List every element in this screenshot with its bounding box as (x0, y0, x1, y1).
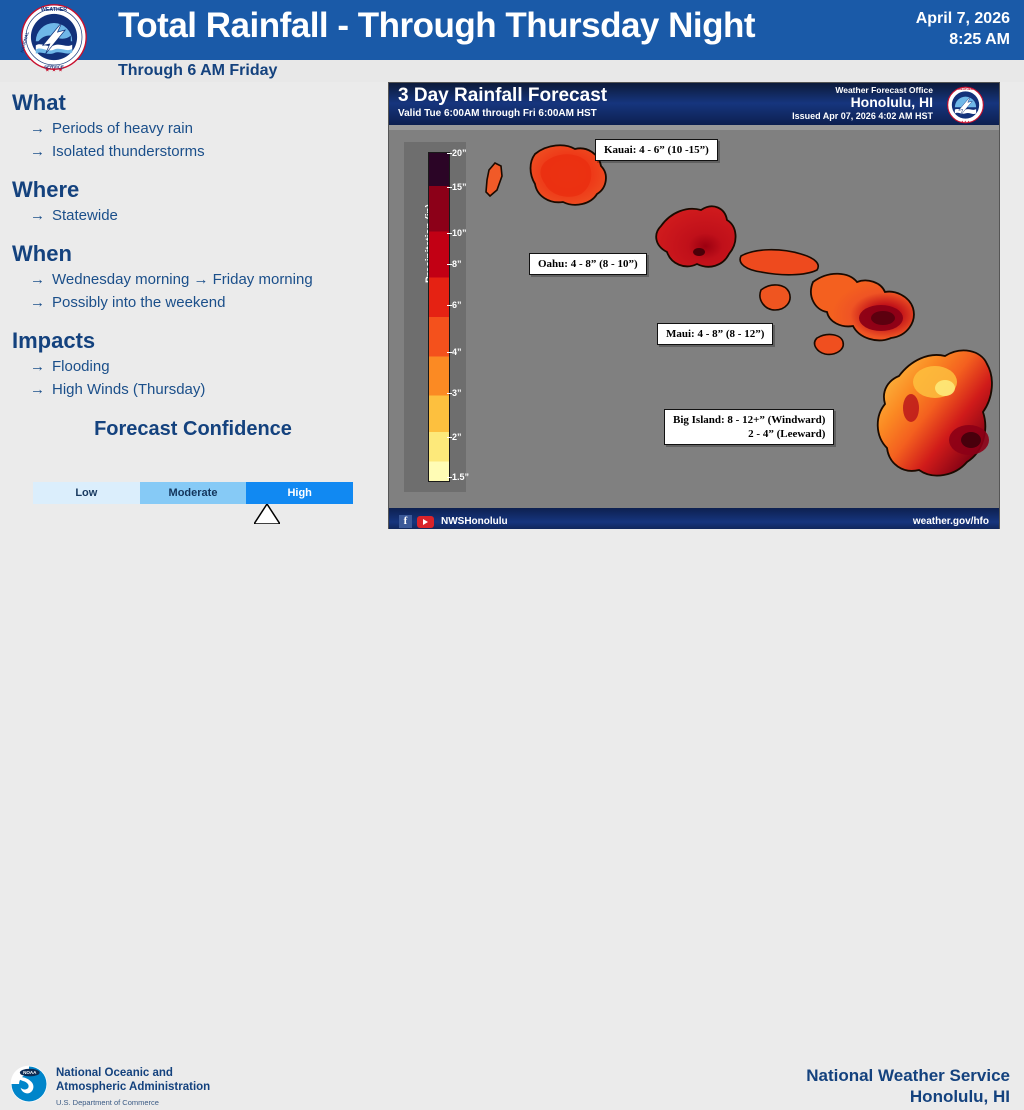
island-maui (811, 274, 914, 341)
arrow-right-icon: → (30, 293, 52, 313)
nws-footer-line-2: Honolulu, HI (806, 1086, 1010, 1107)
svg-text:WEATHER: WEATHER (41, 7, 67, 13)
section-heading-where: Where (12, 177, 386, 203)
wfo-name: Honolulu, HI (792, 95, 933, 110)
callout-big-island-leeward: 2 - 4” (Leeward) (673, 427, 825, 441)
header-date: April 7, 2026 (916, 8, 1010, 29)
bullet-item: → Statewide (30, 206, 386, 226)
sub-header-text: Through 6 AM Friday (118, 60, 277, 82)
bullet-text: Periods of heavy rain (52, 119, 193, 139)
svg-text:NOAA: NOAA (23, 1070, 37, 1075)
section-heading-when: When (12, 241, 386, 267)
confidence-level-high[interactable]: High (246, 482, 353, 504)
confidence-level-moderate[interactable]: Moderate (140, 482, 247, 504)
callout-kauai: Kauai: 4 - 6” (10 -15”) (595, 139, 718, 161)
header-time: 8:25 AM (916, 29, 1010, 50)
arrow-right-icon: → (30, 270, 52, 290)
facebook-icon[interactable]: f (399, 515, 412, 528)
briefing-panel: What → Periods of heavy rain → Isolated … (0, 82, 386, 529)
confidence-marker-triangle-icon (254, 504, 280, 524)
nws-seal-icon: WEATHER SERVICE NATIONAL ★ ★ ★ (6, 2, 102, 72)
callout-big-island: Big Island: 8 - 12+” (Windward) 2 - 4” (… (664, 409, 834, 445)
arrow-right-icon: → (30, 380, 52, 400)
island-lanai (760, 285, 790, 310)
header-datetime: April 7, 2026 8:25 AM (916, 8, 1010, 50)
weather-forecast-office-block: Weather Forecast Office Honolulu, HI Iss… (792, 85, 933, 121)
section-heading-impacts: Impacts (12, 328, 386, 354)
noaa-agency-name: National Oceanic and Atmospheric Adminis… (56, 1067, 210, 1110)
hawaii-islands-layer (389, 130, 999, 508)
noaa-department: U.S. Department of Commerce (56, 1096, 210, 1110)
social-handle[interactable]: NWSHonolulu (441, 516, 508, 527)
callout-big-island-windward: Big Island: 8 - 12+” (Windward) (673, 413, 825, 427)
bullet-item: → Periods of heavy rain (30, 119, 386, 139)
wfo-issued: Issued Apr 07, 2026 4:02 AM HST (792, 111, 933, 121)
map-valid-period: Valid Tue 6:00AM through Fri 6:00AM HST (398, 108, 597, 119)
bullet-item: → High Winds (Thursday) (30, 380, 386, 400)
bullet-item: → Wednesday morning → Friday morning (30, 270, 386, 290)
rainfall-forecast-map[interactable]: 3 Day Rainfall Forecast Valid Tue 6:00AM… (388, 82, 1000, 537)
bullet-text: Statewide (52, 206, 118, 226)
map-canvas[interactable]: Precipitation (in) 20” 15” 10” 8” 6” 4” … (389, 130, 999, 508)
map-title: 3 Day Rainfall Forecast (398, 85, 607, 107)
arrow-right-icon: → (30, 206, 52, 226)
bullet-item: → Flooding (30, 357, 386, 377)
bullet-text: Possibly into the weekend (52, 293, 225, 313)
bullet-item: → Possibly into the weekend (30, 293, 386, 313)
page-title: Total Rainfall - Through Thursday Night (118, 6, 755, 46)
island-niihau (486, 163, 502, 196)
confidence-level-low[interactable]: Low (33, 482, 140, 504)
page-header: Total Rainfall - Through Thursday Night … (0, 0, 1024, 60)
nws-footer-line-1: National Weather Service (806, 1065, 1010, 1086)
confidence-scale: Low Moderate High (33, 482, 353, 504)
arrow-right-icon: → (30, 119, 52, 139)
island-oahu (656, 206, 735, 266)
bullet-text: High Winds (Thursday) (52, 380, 205, 400)
section-heading-what: What (12, 90, 386, 116)
bullet-text: Isolated thunderstorms (52, 142, 205, 162)
bullet-text: Flooding (52, 357, 110, 377)
arrow-right-icon: → (30, 357, 52, 377)
nws-office-footer: National Weather Service Honolulu, HI (806, 1065, 1010, 1107)
island-molokai (740, 250, 818, 275)
noaa-line-1: National Oceanic and (56, 1067, 210, 1081)
nws-seal-small-icon: WEATHER ★ ★ ★ (938, 86, 993, 124)
page-footer: NOAA National Oceanic and Atmospheric Ad… (0, 529, 1024, 579)
callout-oahu: Oahu: 4 - 8” (8 - 10”) (529, 253, 647, 275)
svg-text:★ ★ ★: ★ ★ ★ (45, 66, 63, 72)
map-website-url[interactable]: weather.gov/hfo (913, 516, 989, 527)
noaa-logo-icon: NOAA (8, 1065, 50, 1103)
social-links[interactable]: f NWSHonolulu (399, 515, 508, 528)
island-kahoolawe (815, 335, 844, 355)
svg-text:WEATHER: WEATHER (958, 87, 974, 91)
bullet-text: Wednesday morning → Friday morning (52, 270, 313, 290)
bullet-item: → Isolated thunderstorms (30, 142, 386, 162)
arrow-right-icon: → (30, 142, 52, 162)
youtube-icon[interactable] (417, 516, 434, 528)
forecast-confidence-title: Forecast Confidence (0, 418, 386, 441)
noaa-line-2: Atmospheric Administration (56, 1081, 210, 1095)
callout-maui: Maui: 4 - 8” (8 - 12”) (657, 323, 773, 345)
